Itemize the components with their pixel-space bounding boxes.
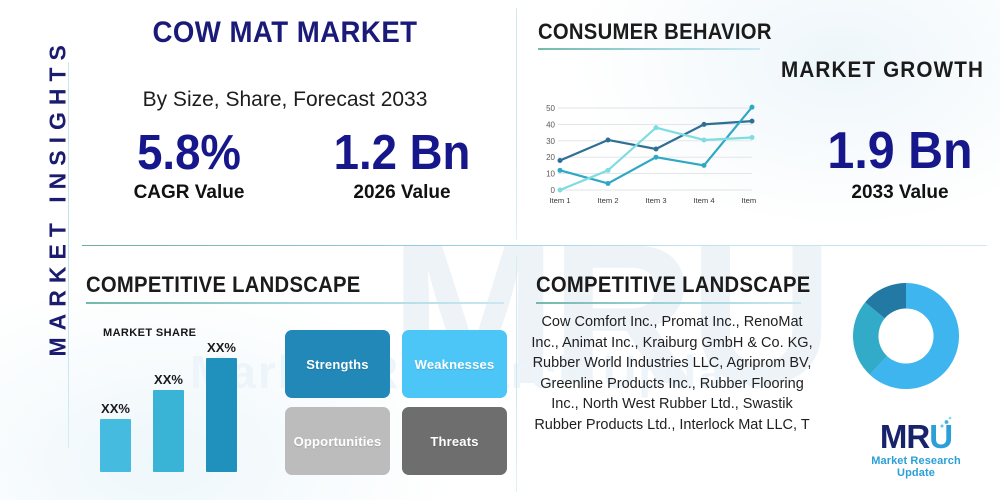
donut-chart-svg	[836, 266, 976, 406]
svg-text:40: 40	[546, 120, 555, 129]
mru-logo-mark: MRU	[880, 420, 952, 454]
svg-text:30: 30	[546, 137, 555, 146]
market-share-bar: XX%	[153, 390, 184, 472]
market-share-bar-label: XX%	[154, 372, 183, 387]
water-drop-icon	[938, 415, 954, 431]
consumer-behavior-line-chart: 01020304050Item 1Item 2Item 3Item 4Item …	[538, 100, 756, 212]
company-list: Cow Comfort Inc., Promat Inc., RenoMat I…	[528, 312, 816, 435]
section-title-competitive-landscape-left: COMPETITIVE LANDSCAPE	[86, 272, 361, 298]
rail-divider	[68, 62, 69, 448]
kpi-cagr-caption: CAGR Value	[104, 182, 274, 204]
market-share-bar-rect	[206, 358, 237, 472]
market-share-bar: XX%	[100, 419, 131, 472]
horizontal-divider	[82, 245, 987, 246]
market-share-donut-chart	[836, 266, 976, 406]
svg-text:10: 10	[546, 170, 555, 179]
page-title: COW MAT MARKET	[101, 16, 469, 50]
svg-text:Item 4: Item 4	[693, 196, 714, 205]
svg-text:50: 50	[546, 104, 555, 113]
mru-logo: MRU Market Research Update	[856, 420, 976, 479]
svg-text:Item 3: Item 3	[645, 196, 666, 205]
section-underline-competitive-landscape-left	[86, 302, 504, 304]
kpi-2026-value: 1.2 Bn 2026 Value	[312, 126, 492, 204]
swot-box-threats[interactable]: Threats	[402, 407, 507, 475]
section-underline-consumer-behavior	[538, 48, 760, 50]
section-title-competitive-landscape-right: COMPETITIVE LANDSCAPE	[536, 272, 811, 298]
line-chart-svg: 01020304050Item 1Item 2Item 3Item 4Item …	[538, 100, 756, 212]
market-share-bar-rect	[100, 419, 131, 472]
market-share-bar-rect	[153, 390, 184, 472]
market-share-caption: MARKET SHARE	[103, 327, 196, 339]
swot-grid: StrengthsWeaknessesOpportunitiesThreats	[285, 330, 507, 475]
swot-box-strengths[interactable]: Strengths	[285, 330, 390, 398]
vertical-divider-bottom	[516, 256, 517, 492]
market-share-bar: XX%	[206, 358, 237, 472]
kpi-2026-caption: 2026 Value	[312, 182, 492, 204]
kpi-cagr-value: 5.8% CAGR Value	[104, 126, 274, 204]
svg-text:Item 2: Item 2	[597, 196, 618, 205]
swot-box-opportunities[interactable]: Opportunities	[285, 407, 390, 475]
kpi-2026-number: 1.2 Bn	[318, 126, 485, 180]
svg-text:0: 0	[551, 186, 556, 195]
svg-text:Item 5: Item 5	[741, 196, 756, 205]
kpi-2033-value: 1.9 Bn 2033 Value	[800, 122, 1000, 204]
section-underline-competitive-landscape-right	[536, 302, 801, 304]
svg-text:Item 1: Item 1	[549, 196, 570, 205]
market-share-bar-label: XX%	[207, 340, 236, 355]
page-subtitle: By Size, Share, Forecast 2033	[85, 88, 485, 112]
market-share-bar-chart: XX%XX%XX%	[100, 340, 260, 472]
section-title-consumer-behavior: CONSUMER BEHAVIOR	[538, 19, 772, 45]
vertical-divider-top	[516, 8, 517, 240]
kpi-2033-number: 1.9 Bn	[807, 122, 993, 180]
swot-box-weaknesses[interactable]: Weaknesses	[402, 330, 507, 398]
mru-logo-mr: MR	[880, 418, 929, 455]
infographic-canvas: MRU Market Research Update MARKET INSIGH…	[0, 0, 1000, 500]
kpi-cagr-number: 5.8%	[110, 126, 268, 180]
kpi-2033-caption: 2033 Value	[800, 182, 1000, 204]
section-title-market-growth: MARKET GROWTH	[781, 57, 984, 83]
market-share-bar-label: XX%	[101, 401, 130, 416]
svg-text:20: 20	[546, 153, 555, 162]
mru-logo-tagline: Market Research Update	[856, 455, 976, 479]
